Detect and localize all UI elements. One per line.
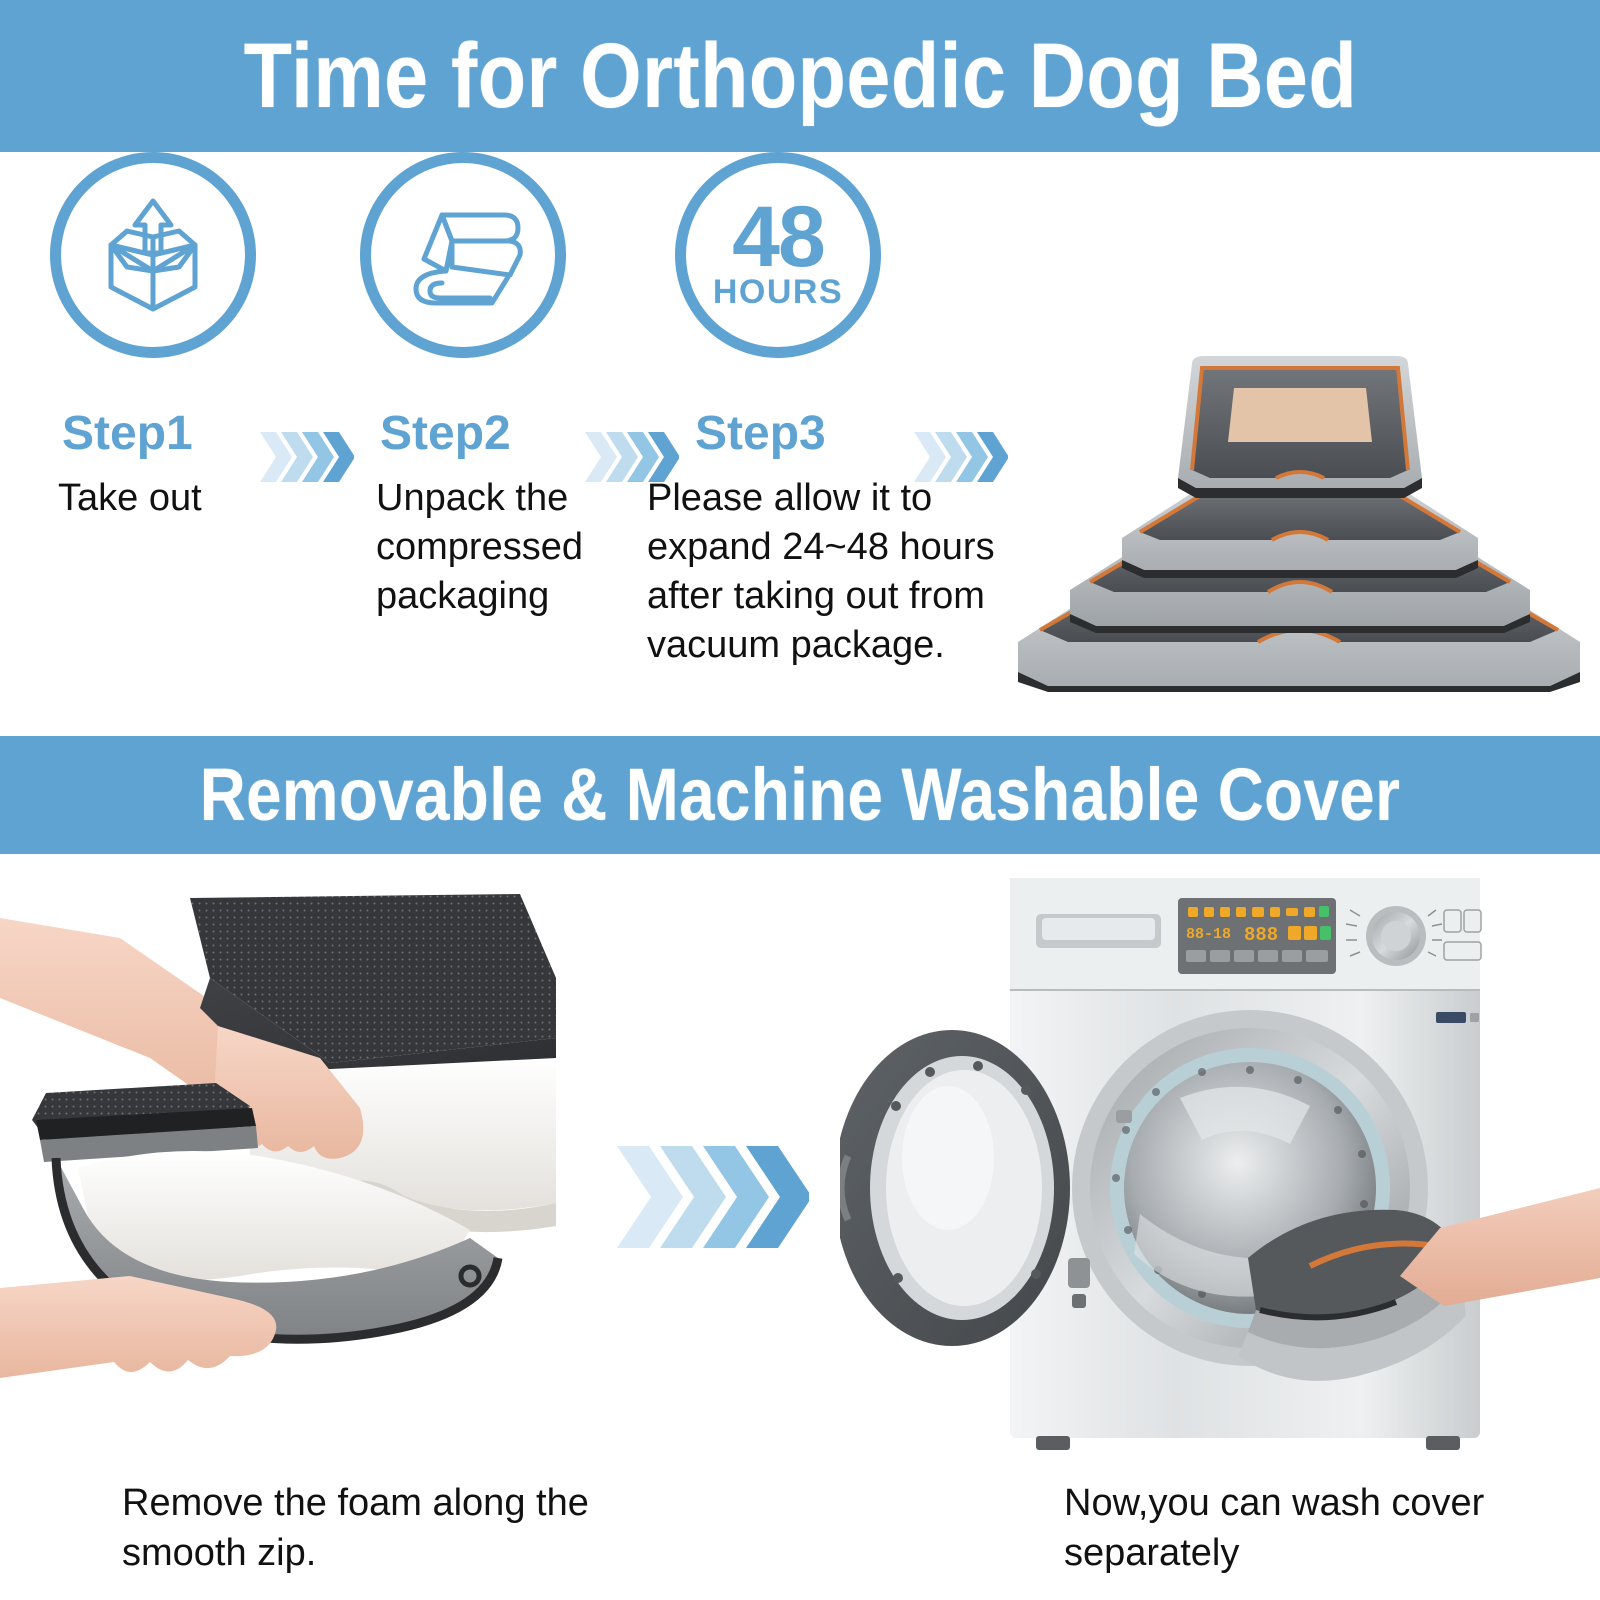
chevron-right-icon <box>912 428 1008 486</box>
chevron-right-icon <box>613 1138 809 1256</box>
program-dial[interactable] <box>1366 906 1426 966</box>
washing-machine-photo: 88-18 888 <box>840 858 1600 1458</box>
badge-unit: HOURS <box>713 274 843 310</box>
48-hours-badge-icon: 48 HOURS <box>713 200 843 310</box>
steps-section: Step1 Take out <box>0 152 1600 736</box>
detergent-drawer[interactable] <box>1036 914 1161 948</box>
svg-text:88-18: 88-18 <box>1186 926 1231 943</box>
middle-banner-title: Removable & Machine Washable Cover <box>200 758 1401 832</box>
door-hinge <box>1068 1258 1090 1288</box>
removing-foam-photo <box>0 858 560 1438</box>
dog-bed-size-1 <box>1178 356 1422 498</box>
top-banner-title: Time for Orthopedic Dog Bed <box>243 30 1356 122</box>
step-2-description: Unpack the compressed packaging <box>376 474 626 621</box>
chevron-right-icon <box>583 428 679 486</box>
step-3-description: Please allow it to expand 24~48 hours af… <box>647 474 1039 670</box>
top-banner: Time for Orthopedic Dog Bed <box>0 0 1600 152</box>
chevron-arrow-group-3 <box>912 428 1008 486</box>
caption-wash-cover: Now,you can wash cover separately <box>1064 1478 1534 1578</box>
chevron-arrow-group-large <box>613 1138 809 1256</box>
step-3-icon-circle: 48 HOURS <box>675 152 881 358</box>
svg-text:888: 888 <box>1244 924 1278 946</box>
open-box-with-up-arrow-icon <box>83 185 223 325</box>
stacked-dog-beds-photo <box>1010 342 1588 692</box>
middle-banner: Removable & Machine Washable Cover <box>0 736 1600 854</box>
step-3: 48 HOURS Step3 Please allow it to expand… <box>645 152 1040 670</box>
step-2: Step2 Unpack the compressed packaging <box>340 152 640 621</box>
caption-remove-foam: Remove the foam along the smooth zip. <box>122 1478 642 1578</box>
step-1-icon-circle <box>50 152 256 358</box>
brand-badge <box>1436 1012 1479 1023</box>
chevron-arrow-group-1 <box>258 428 354 486</box>
door-latch <box>1116 1110 1132 1123</box>
badge-number: 48 <box>713 200 843 274</box>
step-2-icon-circle <box>360 152 566 358</box>
folded-blanket-icon <box>390 185 536 325</box>
chevron-right-icon <box>258 428 354 486</box>
chevron-arrow-group-2 <box>583 428 679 486</box>
control-panel[interactable]: 88-18 888 <box>1178 898 1336 974</box>
infographic-page: Time for Orthopedic Dog Bed <box>0 0 1600 1600</box>
